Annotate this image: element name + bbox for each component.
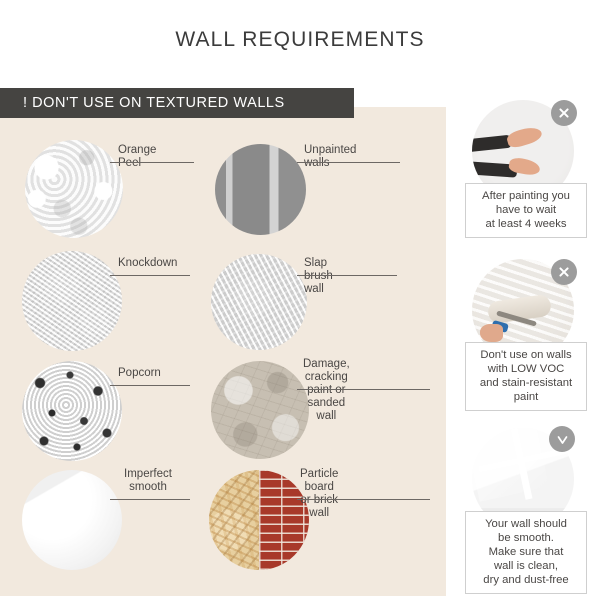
damaged-wall-texture (211, 361, 309, 459)
texture-label: Slap brush wall (304, 257, 333, 296)
particle-board-half (209, 470, 259, 570)
requirement-card-smooth-clean-wall: Your wall should be smooth. Make sure th… (446, 424, 600, 588)
warning-banner: ! DON'T USE ON TEXTURED WALLS (0, 88, 354, 118)
cross-icon (551, 259, 577, 285)
requirement-caption: After painting you have to wait at least… (465, 183, 587, 238)
texture-label-rule (297, 162, 400, 163)
texture-label-rule (297, 499, 430, 500)
texture-label: Particle board or brick wall (300, 468, 338, 520)
unpainted-wall-photo (215, 144, 306, 235)
requirement-card-low-voc: Don't use on walls with LOW VOC and stai… (446, 255, 600, 405)
warning-banner-label: ! DON'T USE ON TEXTURED WALLS (23, 95, 285, 111)
texture-label: Damage, cracking paint or sanded wall (303, 358, 350, 423)
hand-shape (505, 124, 543, 149)
requirement-caption: Your wall should be smooth. Make sure th… (465, 511, 587, 594)
texture-label-rule (297, 389, 430, 390)
knockdown-texture (22, 251, 122, 351)
texture-label-rule (297, 275, 397, 276)
requirement-card-wait-4-weeks: After painting you have to wait at least… (446, 96, 600, 236)
particle-board-brick-texture (209, 470, 309, 570)
orange-peel-texture (25, 140, 123, 238)
texture-label: Unpainted walls (304, 144, 356, 170)
texture-label-rule (110, 275, 190, 276)
texture-label: Popcorn (118, 367, 161, 380)
arm-shape (472, 134, 511, 152)
texture-label: Knockdown (118, 257, 177, 270)
texture-swatch-grid: Orange Peel Unpainted walls Knockdown Sl… (0, 118, 446, 596)
texture-label: Imperfect smooth (112, 468, 184, 494)
imperfect-smooth-texture (22, 470, 122, 570)
hand-shape (480, 324, 502, 341)
texture-label: Orange Peel (118, 144, 156, 170)
slap-brush-texture (211, 254, 307, 350)
cross-icon (551, 100, 577, 126)
texture-label-rule (110, 162, 194, 163)
texture-label-rule (110, 499, 190, 500)
texture-label-rule (110, 385, 190, 386)
requirement-caption: Don't use on walls with LOW VOC and stai… (465, 342, 587, 411)
popcorn-texture (22, 361, 122, 461)
requirements-column: After painting you have to wait at least… (446, 0, 600, 600)
check-icon (549, 426, 575, 452)
